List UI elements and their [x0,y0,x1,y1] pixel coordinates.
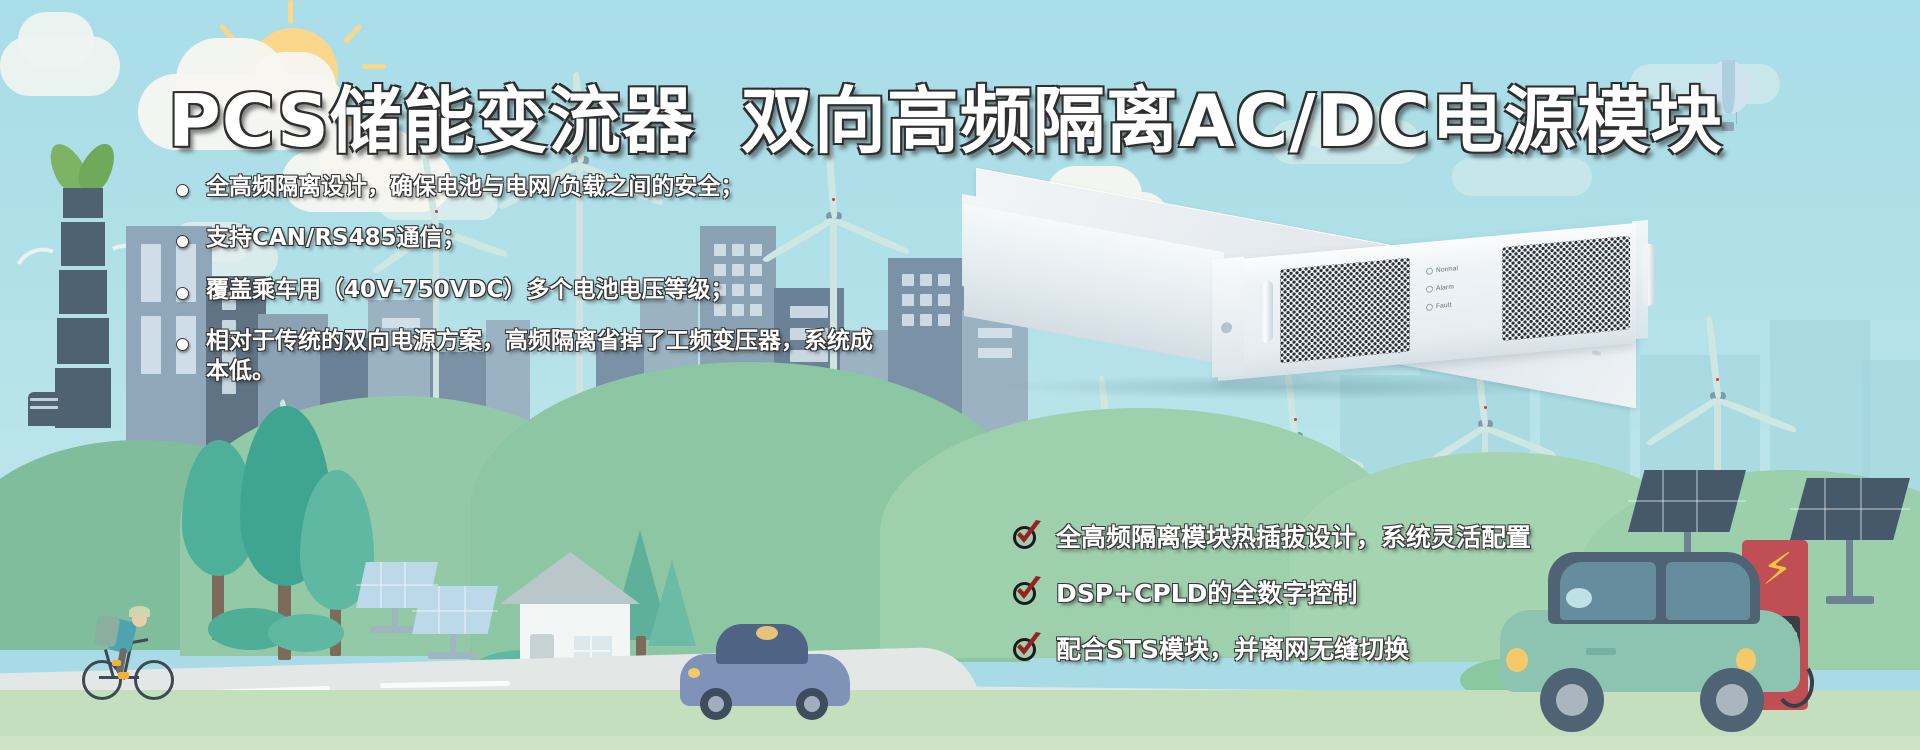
bullet-dot-icon [176,235,189,248]
list-item: 全高频隔离模块热插拔设计，系统灵活配置 [1012,518,1612,554]
check-circle-icon [1012,520,1044,552]
list-item: 覆盖乘车用（40V-750VDC）多个电池电压等级； [176,275,936,305]
benefit-text: DSP+CPLD的全数字控制 [1056,574,1357,610]
feature-text: 全高频隔离设计，确保电池与电网/负载之间的安全； [206,172,743,202]
product-banner: Normal Alarm Fault [0,0,1920,750]
list-item: 相对于传统的双向电源方案，高频隔离省掉了工频变压器，系统成本低。 [176,326,876,387]
lightning-bolt-icon: ⚡ [1762,548,1793,592]
device-rack-ear-left [1212,257,1244,378]
list-item: 配合STS模块，并离网无缝切换 [1012,630,1612,666]
led-alarm: Alarm [1426,284,1454,294]
device-rack-ear-right [1632,220,1648,339]
benefit-text: 配合STS模块，并离网无缝切换 [1056,630,1409,666]
benefit-list: 全高频隔离模块热插拔设计，系统灵活配置 DSP+CPLD的全数字控制 配合STS… [1012,518,1612,686]
check-circle-icon [1012,632,1044,664]
device-vent-grille-left [1280,258,1410,364]
list-item: DSP+CPLD的全数字控制 [1012,574,1612,610]
feature-list: 全高频隔离设计，确保电池与电网/负载之间的安全； 支持CAN/RS485通信； … [176,172,936,408]
list-item: 支持CAN/RS485通信； [176,223,936,253]
title-part-2: 双向高频隔离AC/DC电源模块 [741,79,1723,163]
led-label-alarm: Alarm [1436,284,1454,293]
check-circle-icon [1012,576,1044,608]
bullet-dot-icon [176,184,189,197]
benefit-text: 全高频隔离模块热插拔设计，系统灵活配置 [1056,518,1531,554]
grass-strip-lower [0,736,1920,750]
feature-text: 覆盖乘车用（40V-750VDC）多个电池电压等级； [206,275,733,305]
bullet-dot-icon [176,287,189,300]
led-indicator-normal [1426,267,1433,275]
page-title: PCS储能变流器双向高频隔离AC/DC电源模块 [168,62,1348,146]
led-normal: Normal [1426,265,1458,275]
device-vent-grille-right [1502,236,1630,342]
title-part-1: PCS储能变流器 [168,79,695,163]
led-label-normal: Normal [1436,265,1458,274]
feature-text: 支持CAN/RS485通信； [206,223,466,253]
led-indicator-fault [1426,303,1433,311]
led-label-fault: Fault [1436,302,1451,310]
bullet-dot-icon [176,338,189,351]
feature-text: 相对于传统的双向电源方案，高频隔离省掉了工频变压器，系统成本低。 [206,326,876,387]
led-fault: Fault [1426,302,1451,311]
led-indicator-alarm [1426,285,1433,293]
device-handle-left [1260,280,1273,343]
pcs-power-module: Normal Alarm Fault [952,168,1652,408]
list-item: 全高频隔离设计，确保电池与电网/负载之间的安全； [176,172,936,202]
